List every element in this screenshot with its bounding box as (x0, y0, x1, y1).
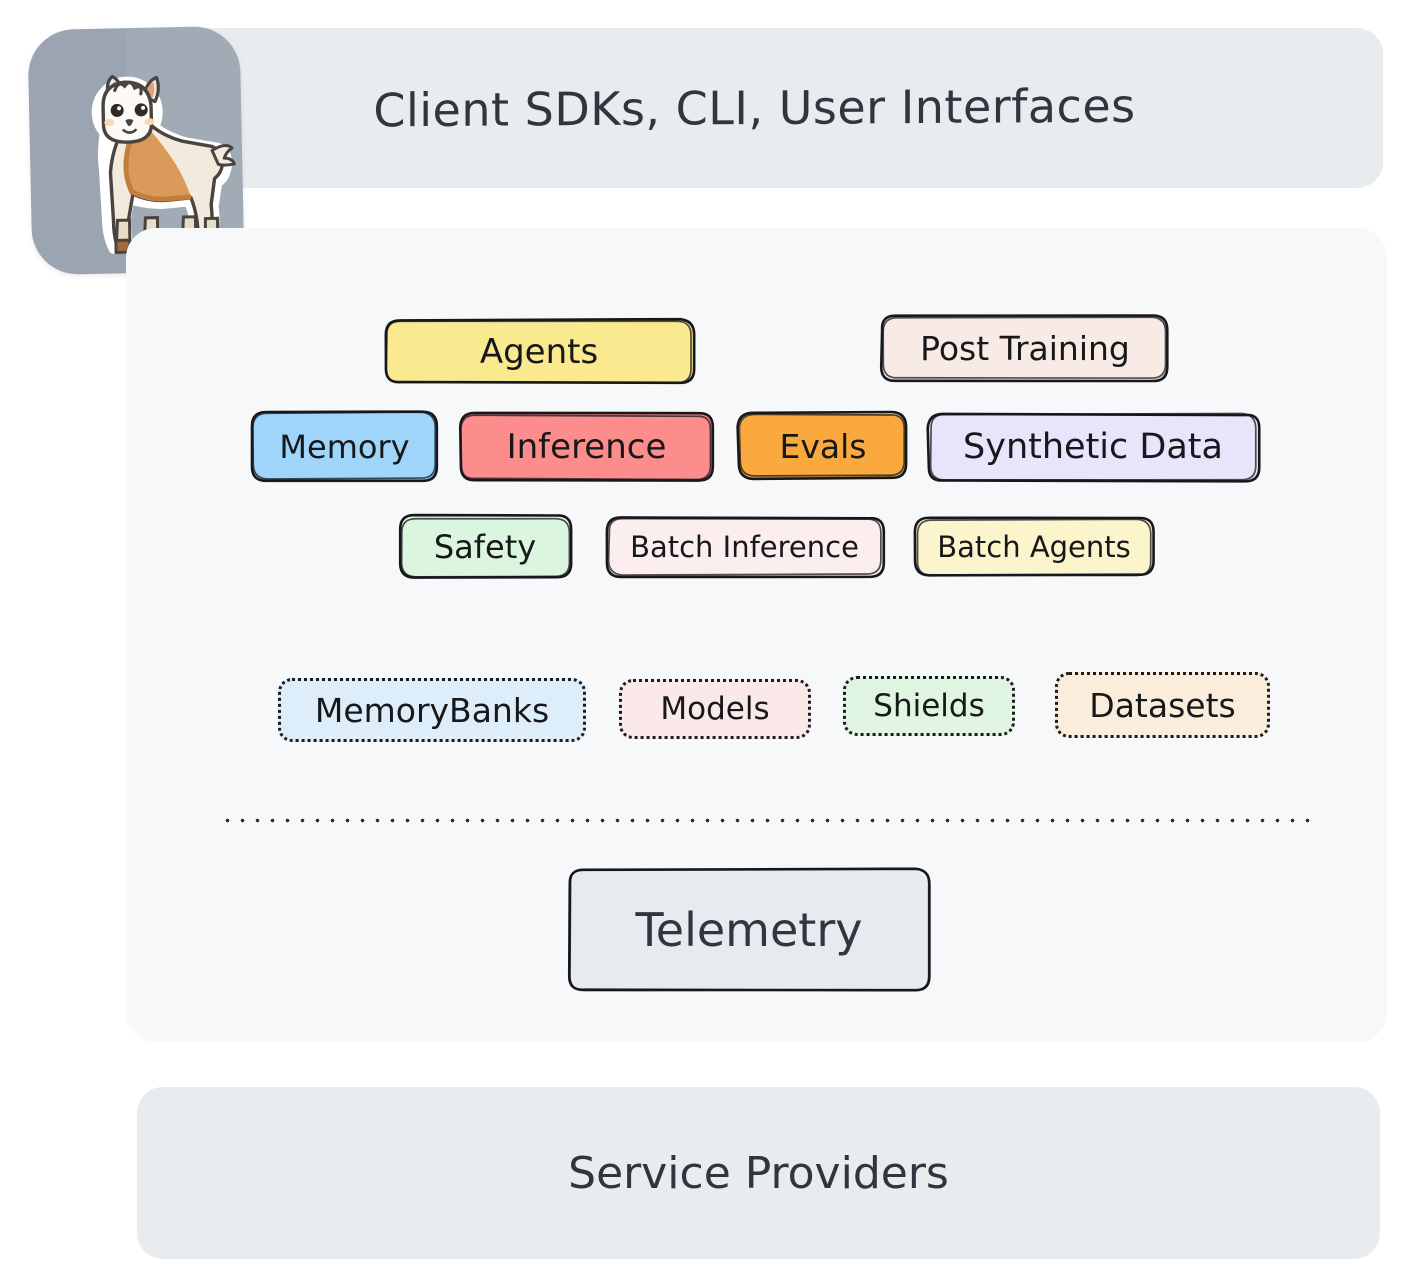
api-box-memory[interactable]: Memory (252, 413, 437, 480)
page-title: Client SDKs, CLI, User Interfaces (126, 24, 1383, 192)
telemetry-box[interactable]: Telemetry (568, 869, 930, 991)
box-label: Memory (273, 431, 415, 463)
header-bar: Client SDKs, CLI, User Interfaces (126, 28, 1383, 188)
resource-box-datasets[interactable]: Datasets (1055, 672, 1270, 738)
api-box-synthetic-data[interactable]: Synthetic Data (928, 414, 1258, 481)
box-label: Shields (873, 691, 984, 722)
box-label: Safety (428, 531, 542, 563)
service-providers-label: Service Providers (137, 1087, 1380, 1259)
dotted-separator (220, 818, 1315, 823)
box-label: MemoryBanks (315, 694, 549, 727)
resource-box-models[interactable]: Models (619, 679, 811, 739)
box-label: Datasets (1089, 689, 1235, 722)
box-label: Batch Inference (624, 533, 865, 562)
footer-bar: Service Providers (137, 1087, 1380, 1259)
box-label: Telemetry (630, 907, 869, 953)
api-box-post-training[interactable]: Post Training (882, 316, 1168, 380)
api-box-evals[interactable]: Evals (740, 414, 906, 478)
resource-box-memorybanks[interactable]: MemoryBanks (278, 678, 586, 742)
api-box-safety[interactable]: Safety (399, 516, 571, 578)
api-box-inference[interactable]: Inference (460, 413, 713, 480)
box-label: Agents (474, 335, 604, 369)
box-label: Synthetic Data (957, 430, 1229, 465)
box-label: Evals (774, 430, 873, 463)
box-label: Models (660, 694, 769, 725)
box-label: Batch Agents (931, 533, 1137, 562)
resource-box-shields[interactable]: Shields (843, 676, 1015, 736)
api-box-batch-inference[interactable]: Batch Inference (606, 518, 883, 576)
api-box-batch-agents[interactable]: Batch Agents (915, 519, 1153, 576)
api-box-agents[interactable]: Agents (385, 320, 693, 384)
box-label: Inference (501, 430, 673, 464)
box-label: Post Training (914, 332, 1136, 365)
